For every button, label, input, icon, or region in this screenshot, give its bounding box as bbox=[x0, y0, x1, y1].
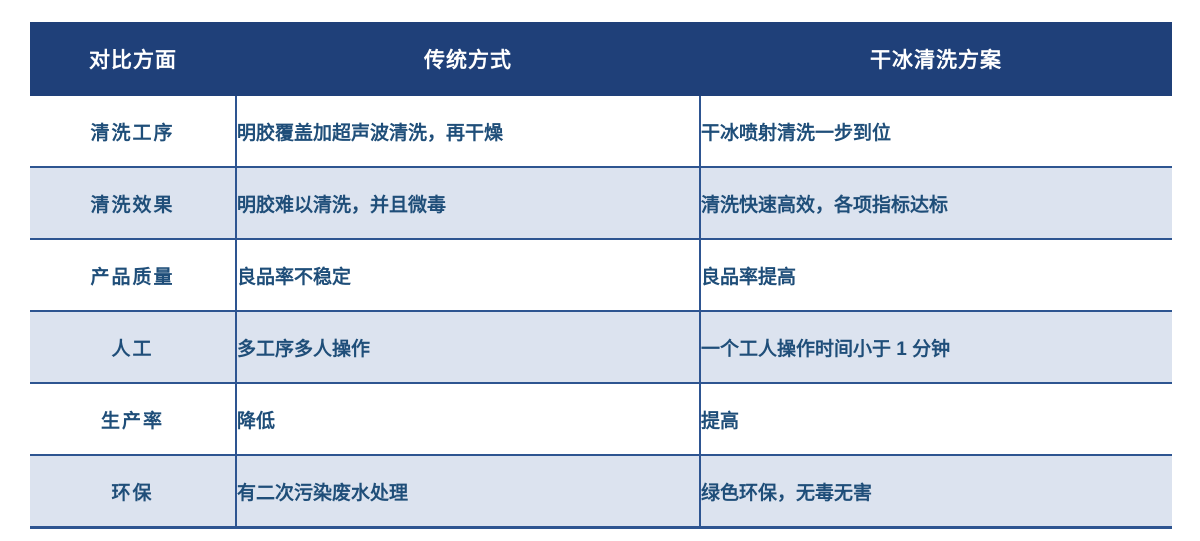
comparison-table: 对比方面 传统方式 干冰清洗方案 清洗工序 明胶覆盖加超声波清洗，再干燥 干冰喷… bbox=[30, 22, 1172, 529]
table-row: 清洗效果 明胶难以清洗，并且微毒 清洗快速高效，各项指标达标 bbox=[30, 167, 1172, 239]
cell-aspect: 生产率 bbox=[30, 383, 236, 455]
cell-aspect: 环保 bbox=[30, 455, 236, 528]
cell-traditional: 良品率不稳定 bbox=[236, 239, 700, 311]
column-header-traditional: 传统方式 bbox=[236, 22, 700, 96]
table-header: 对比方面 传统方式 干冰清洗方案 bbox=[30, 22, 1172, 96]
cell-traditional: 有二次污染废水处理 bbox=[236, 455, 700, 528]
column-header-dryice: 干冰清洗方案 bbox=[700, 22, 1172, 96]
cell-dryice: 清洗快速高效，各项指标达标 bbox=[700, 167, 1172, 239]
cell-dryice: 提高 bbox=[700, 383, 1172, 455]
table-header-row: 对比方面 传统方式 干冰清洗方案 bbox=[30, 22, 1172, 96]
cell-dryice: 一个工人操作时间小于 1 分钟 bbox=[700, 311, 1172, 383]
cell-dryice: 绿色环保，无毒无害 bbox=[700, 455, 1172, 528]
table-row: 人工 多工序多人操作 一个工人操作时间小于 1 分钟 bbox=[30, 311, 1172, 383]
comparison-table-container: 对比方面 传统方式 干冰清洗方案 清洗工序 明胶覆盖加超声波清洗，再干燥 干冰喷… bbox=[30, 22, 1172, 529]
table-row: 生产率 降低 提高 bbox=[30, 383, 1172, 455]
cell-aspect: 清洗效果 bbox=[30, 167, 236, 239]
cell-dryice: 干冰喷射清洗一步到位 bbox=[700, 96, 1172, 167]
table-row: 环保 有二次污染废水处理 绿色环保，无毒无害 bbox=[30, 455, 1172, 528]
column-header-aspect: 对比方面 bbox=[30, 22, 236, 96]
cell-traditional: 降低 bbox=[236, 383, 700, 455]
table-row: 清洗工序 明胶覆盖加超声波清洗，再干燥 干冰喷射清洗一步到位 bbox=[30, 96, 1172, 167]
cell-aspect: 人工 bbox=[30, 311, 236, 383]
table-body: 清洗工序 明胶覆盖加超声波清洗，再干燥 干冰喷射清洗一步到位 清洗效果 明胶难以… bbox=[30, 96, 1172, 528]
cell-traditional: 明胶难以清洗，并且微毒 bbox=[236, 167, 700, 239]
cell-aspect: 清洗工序 bbox=[30, 96, 236, 167]
cell-aspect: 产品质量 bbox=[30, 239, 236, 311]
cell-traditional: 多工序多人操作 bbox=[236, 311, 700, 383]
table-row: 产品质量 良品率不稳定 良品率提高 bbox=[30, 239, 1172, 311]
cell-dryice: 良品率提高 bbox=[700, 239, 1172, 311]
cell-traditional: 明胶覆盖加超声波清洗，再干燥 bbox=[236, 96, 700, 167]
